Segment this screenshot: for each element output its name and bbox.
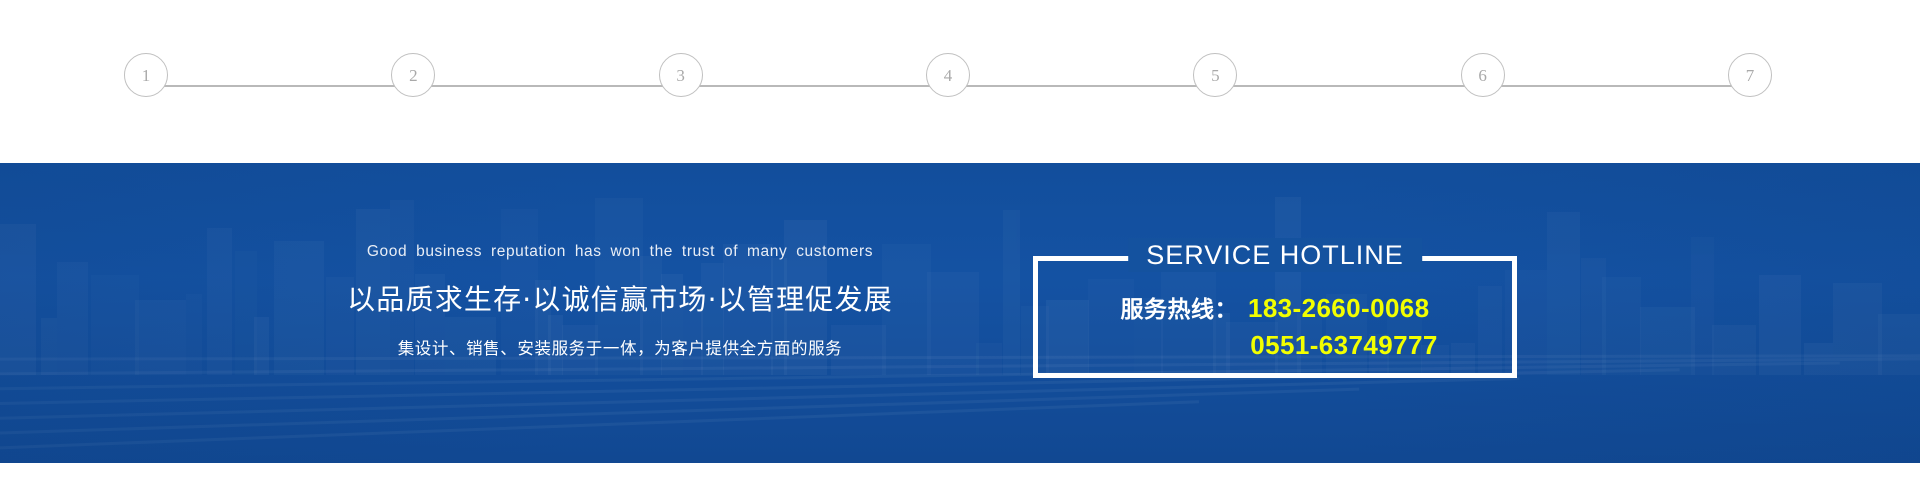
step-node-4[interactable]: 4 [926, 53, 970, 97]
step-label: 3 [676, 67, 685, 84]
step-node-3[interactable]: 3 [659, 53, 703, 97]
slogan-english: Good business reputation has won the tru… [300, 243, 940, 261]
slogan-chinese-sub: 集设计、销售、安装服务于一体，为客户提供全方面的服务 [300, 335, 940, 359]
step-node-5[interactable]: 5 [1193, 53, 1237, 97]
blue-banner: Good business reputation has won the tru… [0, 163, 1920, 463]
step-label: 1 [142, 67, 151, 84]
step-label: 5 [1211, 67, 1220, 84]
step-label: 7 [1746, 67, 1755, 84]
banner-vignette [0, 163, 1920, 463]
step-pagination: 1 2 3 4 5 6 7 [0, 0, 1920, 163]
step-label: 4 [944, 67, 953, 84]
step-label: 6 [1478, 67, 1487, 84]
slogan-block: Good business reputation has won the tru… [300, 243, 940, 359]
hotline-title: SERVICE HOTLINE [1128, 238, 1422, 272]
step-label: 2 [409, 67, 418, 84]
hotline-number-secondary[interactable]: 0551-63749777 [1250, 330, 1437, 361]
hotline-row-primary: 服务热线： 183-2660-0068 [1033, 290, 1517, 324]
hotline-box: SERVICE HOTLINE 服务热线： 183-2660-0068 0551… [1033, 256, 1517, 378]
slogan-chinese-main: 以品质求生存·以诚信赢市场·以管理促发展 [300, 278, 940, 318]
step-node-1[interactable]: 1 [124, 53, 168, 97]
step-node-6[interactable]: 6 [1461, 53, 1505, 97]
hotline-numbers: 服务热线： 183-2660-0068 0551-63749777 [1033, 290, 1517, 361]
hotline-label: 服务热线： [1120, 290, 1238, 324]
hotline-number-primary[interactable]: 183-2660-0068 [1248, 293, 1430, 324]
page-root: 1 2 3 4 5 6 7 Good business reputation h… [0, 0, 1920, 500]
step-node-7[interactable]: 7 [1728, 53, 1772, 97]
step-node-2[interactable]: 2 [391, 53, 435, 97]
hotline-row-secondary: 0551-63749777 [1033, 330, 1517, 361]
